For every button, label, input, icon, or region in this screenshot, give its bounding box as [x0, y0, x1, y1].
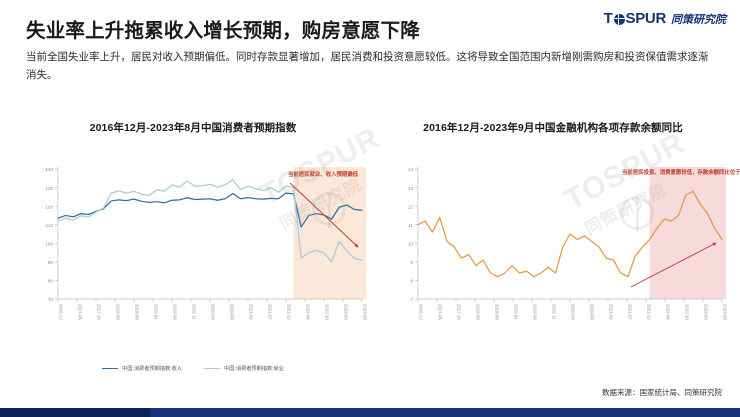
x-axis-tick-label: 2018-03	[476, 304, 481, 320]
x-axis-tick-label: 2019-11	[192, 304, 197, 320]
x-axis-tick-label: 2020-04	[571, 304, 576, 320]
footer-bar-accent	[0, 408, 150, 417]
chart-annotation-left: 当前居民就业、收入预期偏低	[280, 171, 366, 179]
legend-label: 中国:消费者预期指数:收入	[122, 365, 182, 372]
y-axis-tick-label: 120	[45, 204, 53, 209]
x-axis-tick-label: 2021-07	[628, 304, 633, 320]
x-axis-tick-label: 2018-03	[116, 304, 121, 320]
x-axis-tick-label: 2020-09	[230, 304, 235, 320]
slide-canvas: T SPUR 同策研究院 失业率上升拖累收入增长预期，购房意愿下降 当前全国失业…	[0, 0, 740, 417]
x-axis-tick-label: 2017-10	[97, 304, 102, 320]
x-axis-tick-label: 2017-05	[438, 304, 443, 320]
x-axis-tick-label: 2016-12	[59, 304, 64, 320]
brand-logo: T SPUR 同策研究院	[604, 10, 726, 27]
x-axis-tick-label: 2018-08	[495, 304, 500, 320]
plot-area-right: 14131211109872016-122017-052017-102018-0…	[378, 161, 728, 351]
x-axis-tick-label: 2022-05	[666, 304, 671, 320]
chart-panel-consumer-expectation: 2016年12月-2023年8月中国消费者预期指数 14013012011010…	[18, 120, 368, 372]
chart-annotation-right: 当前居民投资、消费意愿较低，存款余额同比位于历史高位	[622, 169, 726, 177]
x-axis-tick-label: 2017-10	[457, 304, 462, 320]
y-axis-tick-label: 7	[410, 297, 413, 302]
x-axis-tick-label: 2020-09	[590, 304, 595, 320]
line-chart-right: 14131211109872016-122017-052017-102018-0…	[378, 161, 728, 351]
legend-item[interactable]: 中国:消费者预期指数:收入	[102, 365, 182, 372]
legend-swatch-income	[102, 368, 118, 370]
x-axis-tick-label: 2019-01	[514, 304, 519, 320]
x-axis-tick-label: 2023-03	[704, 304, 709, 320]
y-axis-tick-label: 80	[48, 279, 54, 284]
x-axis-tick-label: 2021-02	[609, 304, 614, 320]
x-axis-tick-label: 2023-08	[723, 304, 728, 320]
footer-bar	[0, 408, 740, 417]
x-axis-tick-label: 2022-10	[325, 304, 330, 320]
page-title: 失业率上升拖累收入增长预期，购房意愿下降	[26, 14, 420, 43]
x-axis-tick-label: 2019-11	[552, 304, 557, 320]
legend-swatch-employment	[204, 368, 220, 370]
y-axis-tick-label: 100	[45, 241, 53, 246]
y-axis-tick-label: 90	[48, 260, 54, 265]
logo-chinese-name: 同策研究院	[671, 11, 726, 27]
y-axis-tick-label: 140	[45, 167, 53, 172]
globe-icon	[614, 14, 625, 25]
x-axis-tick-label: 2019-06	[173, 304, 178, 320]
x-axis-tick-label: 2023-03	[344, 304, 349, 320]
legend-item[interactable]: 中国:消费者预期指数:就业	[204, 365, 284, 372]
x-axis-tick-label: 2018-08	[135, 304, 140, 320]
y-axis-tick-label: 8	[410, 279, 413, 284]
highlight-region	[650, 167, 726, 299]
y-axis-tick-label: 10	[408, 241, 414, 246]
line-chart-left: 1401301201101009080702016-122017-052017-…	[18, 161, 368, 351]
x-axis-tick-label: 2021-07	[268, 304, 273, 320]
chart-title-right: 2016年12月-2023年9月中国金融机构各项存款余额同比	[378, 120, 728, 135]
highlight-region	[294, 167, 366, 299]
x-axis-tick-label: 2021-12	[647, 304, 652, 320]
legend-label: 中国:消费者预期指数:就业	[224, 365, 284, 372]
y-axis-tick-label: 11	[408, 223, 413, 228]
x-axis-tick-label: 2023-08	[363, 304, 368, 320]
x-axis-tick-label: 2022-10	[685, 304, 690, 320]
source-note: 数据来源：国家统计局、同策研究院	[602, 387, 722, 398]
x-axis-tick-label: 2021-02	[249, 304, 254, 320]
x-axis-tick-label: 2016-12	[419, 304, 424, 320]
chart-legend-left: 中国:消费者预期指数:收入 中国:消费者预期指数:就业	[18, 365, 368, 372]
plot-area-left: 1401301201101009080702016-122017-052017-…	[18, 161, 368, 351]
y-axis-tick-label: 9	[410, 260, 413, 265]
chart-panel-deposit-yoy: 2016年12月-2023年9月中国金融机构各项存款余额同比 141312111…	[378, 120, 728, 351]
y-axis-tick-label: 12	[408, 204, 414, 209]
logo-wordmark: T SPUR	[604, 10, 666, 27]
x-axis-tick-label: 2019-06	[533, 304, 538, 320]
chart-title-left: 2016年12月-2023年8月中国消费者预期指数	[18, 120, 368, 135]
y-axis-tick-label: 70	[48, 297, 54, 302]
y-axis-tick-label: 13	[408, 186, 414, 191]
x-axis-tick-label: 2022-05	[306, 304, 311, 320]
y-axis-tick-label: 110	[46, 223, 54, 228]
x-axis-tick-label: 2019-01	[154, 304, 159, 320]
x-axis-tick-label: 2017-05	[78, 304, 83, 320]
logo-mark-suffix: SPUR	[626, 10, 666, 27]
page-description: 当前全国失业率上升，居民对收入预期偏低。同时存款显著增加，居民消费和投资意愿较低…	[26, 48, 716, 85]
x-axis-tick-label: 2020-04	[211, 304, 216, 320]
logo-mark-prefix: T	[604, 10, 613, 27]
x-axis-tick-label: 2021-12	[287, 304, 292, 320]
y-axis-tick-label: 130	[45, 186, 53, 191]
y-axis-tick-label: 14	[408, 167, 414, 172]
